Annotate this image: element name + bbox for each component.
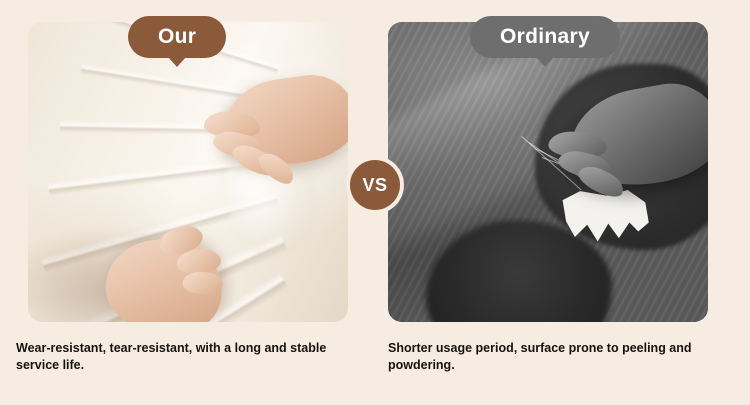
left-product-image-panel — [28, 22, 348, 322]
ordinary-label-text: Ordinary — [500, 25, 590, 49]
our-caption: Wear-resistant, tear-resistant, with a l… — [16, 340, 362, 374]
finger — [182, 271, 223, 294]
comparison-banner: Our Ordinary VS Wear-resistant, tear-res… — [0, 0, 750, 405]
our-label-text: Our — [158, 25, 196, 49]
vs-badge: VS — [350, 160, 400, 210]
ordinary-label-bubble: Ordinary — [470, 16, 620, 58]
ordinary-fabric-photo — [388, 22, 708, 322]
our-label-bubble: Our — [128, 16, 226, 58]
ordinary-caption: Shorter usage period, surface prone to p… — [388, 340, 734, 374]
right-product-image-panel — [388, 22, 708, 322]
hand-upper — [219, 69, 348, 173]
our-fabric-photo — [28, 22, 348, 322]
